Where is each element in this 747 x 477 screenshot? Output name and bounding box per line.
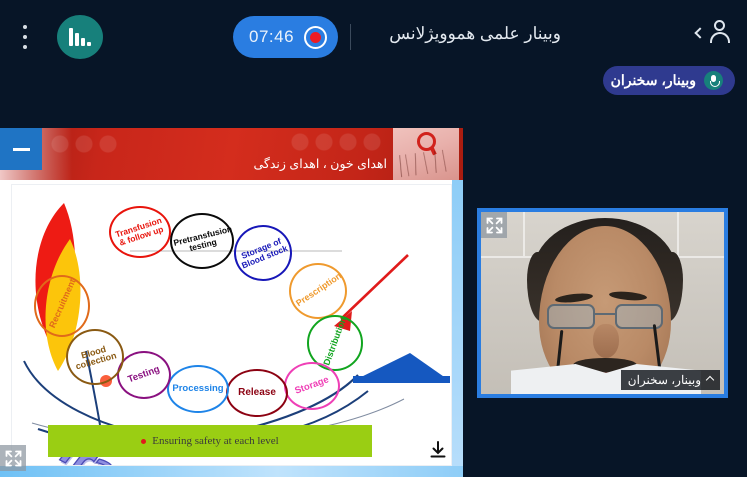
recording-timer-button[interactable]: 07:46 [233, 16, 338, 58]
diagram-node-label: Pretransfusion testing [173, 226, 232, 257]
diagram-node-label: Testing [121, 362, 168, 387]
participants-toggle-button[interactable] [696, 20, 731, 44]
diagram-node-label: Storage [288, 373, 337, 399]
diagram-node-label: Recruitment [48, 282, 76, 330]
person-icon [709, 20, 731, 44]
timer-value: 07:46 [249, 27, 294, 47]
banner-slogan: اهدای خون ، اهدای زندگی [253, 156, 387, 171]
video-participant-name: وبینار، سخنران [628, 373, 701, 387]
chevron-left-icon [694, 27, 705, 38]
slide-content: Transfusion chain Transfusion & follow u… [11, 184, 452, 466]
header-divider [350, 24, 351, 50]
slide-banner: اهدای خون ، اهدای زندگی [0, 128, 463, 180]
safety-footer-bar: Ensuring safety at each level [48, 425, 372, 457]
diagram-node: Testing [117, 351, 171, 399]
diagram-node-label: Processing [171, 384, 225, 394]
page-title: وبینار علمی هموویژلانس [389, 24, 561, 44]
record-dot-icon [304, 26, 327, 49]
diagram-node: Prescription [289, 263, 347, 319]
chevron-up-icon [706, 376, 714, 384]
video-feed: وبینار، سخنران [481, 212, 724, 394]
safety-footer-text: Ensuring safety at each level [152, 435, 278, 447]
transfusion-chain-diagram: Transfusion chain Transfusion & follow u… [12, 185, 452, 466]
diagram-node-label: Distribution [322, 319, 347, 367]
diagram-node: Blood collection [66, 329, 124, 385]
blood-transfusion-org-logo [393, 128, 459, 180]
fullscreen-expand-icon[interactable] [481, 212, 507, 238]
fullscreen-expand-icon[interactable] [0, 445, 26, 471]
diagram-node: Storage of Blood stock [234, 225, 292, 281]
diagram-node: Storage [284, 362, 340, 410]
speaker-name-label: وبینار، سخنران [611, 72, 696, 89]
diagram-node: Transfusion & follow up [109, 206, 171, 258]
diagram-node-label: Prescription [295, 273, 342, 309]
diagram-node-label: Blood collection [68, 341, 121, 373]
presentation-area[interactable]: اهدای خون ، اهدای زندگی [0, 128, 463, 477]
video-name-label[interactable]: وبینار، سخنران [621, 370, 720, 390]
slide-bottom-edge [0, 466, 463, 477]
video-tile-speaker[interactable]: وبینار، سخنران [477, 208, 728, 398]
diagram-node: Processing [167, 365, 229, 413]
top-bar: 07:46 وبینار علمی هموویژلانس وبینار، سخن… [0, 0, 747, 72]
kebab-menu-icon[interactable] [18, 25, 32, 49]
diagram-node: Pretransfusion testing [170, 213, 234, 269]
diagram-node: Recruitment [34, 275, 90, 337]
person-nose [593, 324, 619, 358]
download-icon[interactable] [425, 437, 451, 463]
bullet-icon [141, 439, 146, 444]
slide-right-edge [452, 180, 463, 477]
microphone-icon [704, 71, 723, 90]
wall-line [523, 212, 525, 256]
meeting-app-window: 07:46 وبینار علمی هموویژلانس وبینار، سخن… [0, 0, 747, 477]
diagram-node-label: Release [230, 388, 284, 399]
speaker-status-badge[interactable]: وبینار، سخنران [603, 66, 735, 95]
diagram-node: Release [226, 369, 288, 417]
diagram-node-label: Transfusion & follow up [112, 215, 169, 249]
diagram-node-label: Storage of Blood stock [236, 235, 289, 270]
minimize-presentation-button[interactable] [0, 128, 42, 170]
bar-chart-logo-icon[interactable] [57, 15, 103, 59]
